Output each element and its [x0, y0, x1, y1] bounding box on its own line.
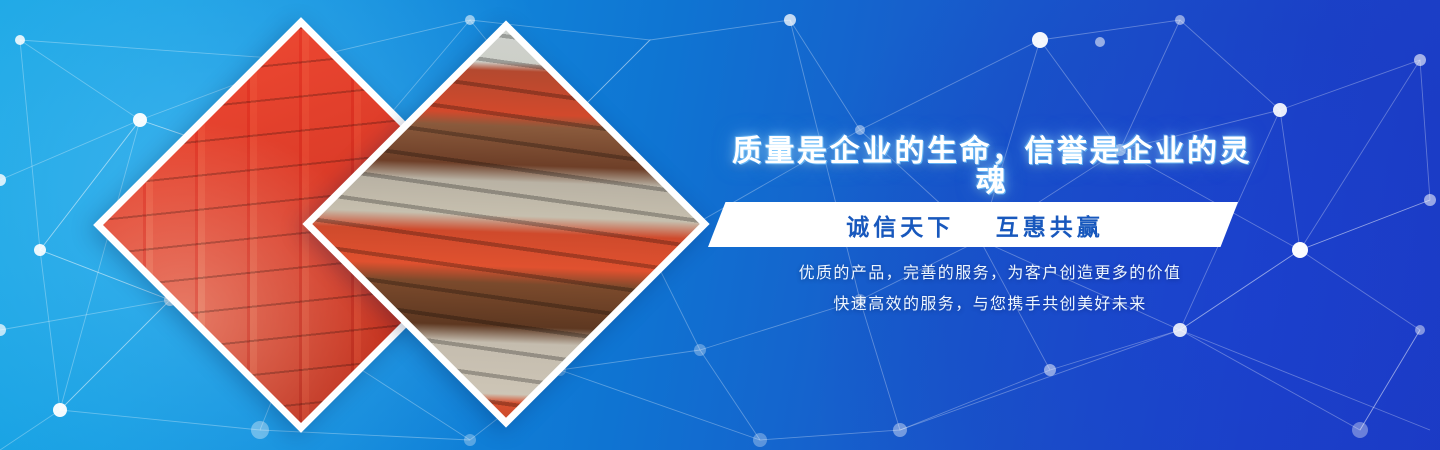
promo-banner: 质量是企业的生命，信誉是企业的灵魂 诚信天下 互惠共赢 优质的产品，完善的服务，… — [0, 0, 1440, 450]
banner-headline: 质量是企业的生命，信誉是企业的灵魂 — [722, 137, 1262, 197]
slogan-ribbon-text: 诚信天下 互惠共赢 — [708, 202, 1238, 247]
banner-subtext-line-1: 优质的产品，完善的服务，为客户创造更多的价值 — [700, 258, 1280, 289]
banner-subtext-line-2: 快速高效的服务，与您携手共创美好未来 — [700, 289, 1280, 320]
slogan-ribbon: 诚信天下 互惠共赢 — [708, 202, 1238, 247]
banner-subtext: 优质的产品，完善的服务，为客户创造更多的价值 快速高效的服务，与您携手共创美好未… — [700, 258, 1280, 320]
